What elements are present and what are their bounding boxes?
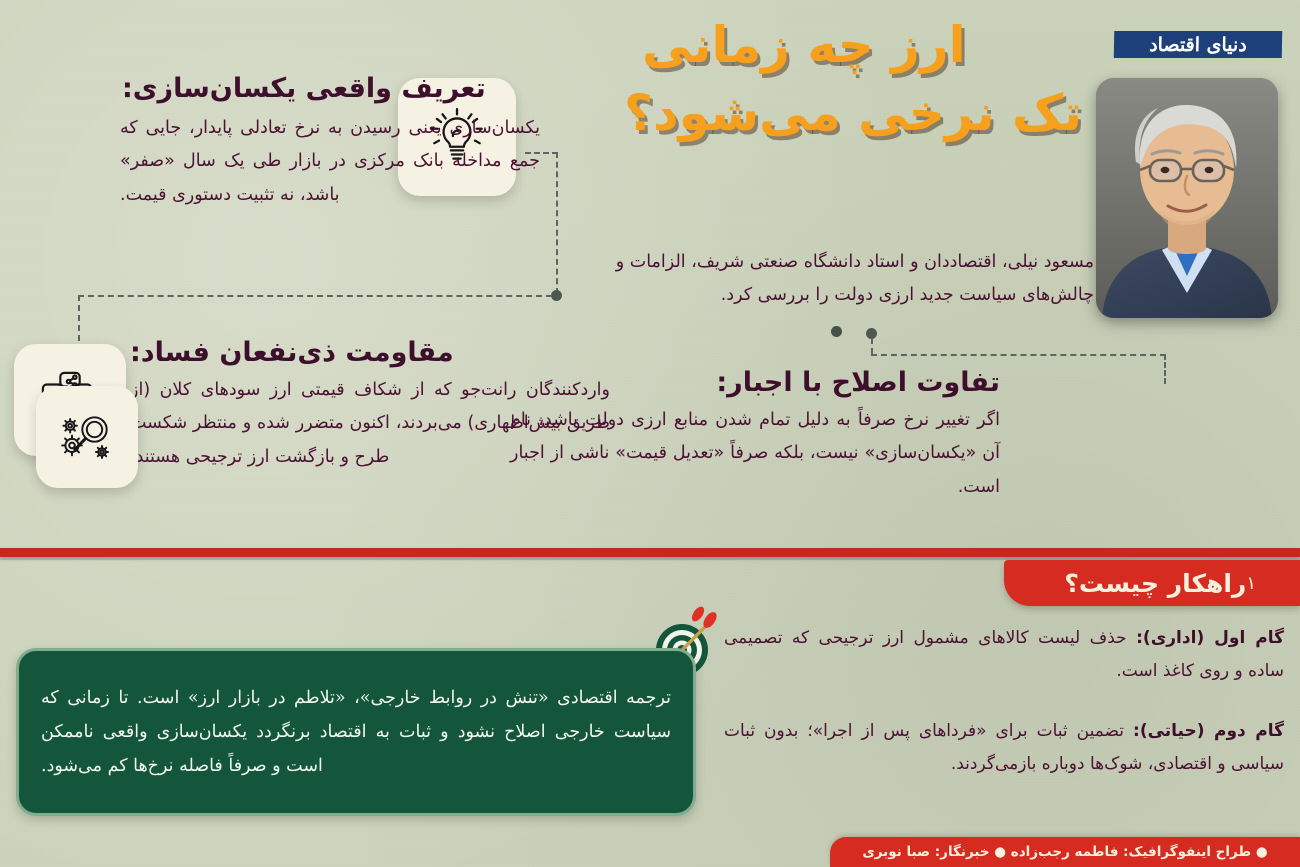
publisher-logo[interactable]: دنیای اقتصاد xyxy=(1110,24,1286,64)
section-reform-vs-force: تفاوت اصلاح با اجبار: اگر تغییر نرخ صرفا… xyxy=(510,366,1000,505)
connector-line-1-vertical xyxy=(556,152,558,294)
solution-steps: گام اول (اداری): حذف لیست کالاهای مشمول … xyxy=(724,622,1284,781)
credits-text: ● طراح اینفوگرافیک: فاطمه رجب‌زاده ● خبر… xyxy=(862,844,1267,860)
step-item: گام دوم (حیاتی): تضمین ثبات برای «فرداها… xyxy=(724,715,1284,780)
infographic-page: دنیای اقتصاد xyxy=(0,0,1300,867)
connector-line-3-vertical xyxy=(871,338,873,354)
logo-label: دنیای اقتصاد xyxy=(1149,33,1247,55)
callout-text: ترجمه اقتصادی «تنش در روابط خارجی»، «تلا… xyxy=(41,681,671,783)
section-reform-heading: تفاوت اصلاح با اجبار: xyxy=(510,366,1000,400)
step-label: گام دوم (حیاتی): xyxy=(1133,721,1284,741)
connector-line-2-vertical xyxy=(78,295,80,341)
connector-line-2-horizontal xyxy=(78,295,552,297)
callout-box: ترجمه اقتصادی «تنش در روابط خارجی»، «تلا… xyxy=(16,648,696,816)
solution-banner: ۱ راهکار چیست؟ xyxy=(1004,560,1300,606)
title-line-1: ارز چه زمانی xyxy=(642,18,1082,72)
logo-plate: دنیای اقتصاد xyxy=(1114,31,1282,58)
page-title: ارز چه زمانی تک نرخی می‌شود؟ xyxy=(642,18,1082,140)
credits-bar: ● طراح اینفوگرافیک: فاطمه رجب‌زاده ● خبر… xyxy=(830,837,1300,867)
title-line-2: تک نرخی می‌شود؟ xyxy=(642,86,1082,140)
section-corruption-heading: مقاومت ذی‌نفعان فساد: xyxy=(130,336,610,370)
connector-line-4-vertical xyxy=(1164,354,1166,384)
solution-banner-number: ۱ xyxy=(1246,573,1256,594)
gears-magnifier-icon xyxy=(57,407,117,467)
connector-line-3-horizontal xyxy=(871,354,1166,356)
step-item: گام اول (اداری): حذف لیست کالاهای مشمول … xyxy=(724,622,1284,687)
connector-node-2 xyxy=(866,328,877,339)
step-label: گام اول (اداری): xyxy=(1136,628,1284,648)
subtitle-bullet-dot xyxy=(831,326,842,337)
section-definition-heading: تعریف واقعی یکسان‌سازی: xyxy=(120,72,540,106)
section-definition-body: یکسان‌سازی یعنی رسیدن به نرخ تعادلی پاید… xyxy=(120,112,540,213)
gears-magnifier-icon-tile xyxy=(36,386,138,488)
portrait-photo xyxy=(1096,78,1278,318)
section-reform-body: اگر تغییر نرخ صرفاً به دلیل تمام شدن منا… xyxy=(510,404,1000,505)
solution-banner-label: راهکار چیست؟ xyxy=(1064,569,1246,598)
red-divider xyxy=(0,548,1300,557)
page-subtitle: مسعود نیلی، اقتصاددان و استاد دانشگاه صن… xyxy=(564,246,1094,313)
connector-node-1 xyxy=(551,290,562,301)
section-definition: تعریف واقعی یکسان‌سازی: یکسان‌سازی یعنی … xyxy=(120,72,540,213)
